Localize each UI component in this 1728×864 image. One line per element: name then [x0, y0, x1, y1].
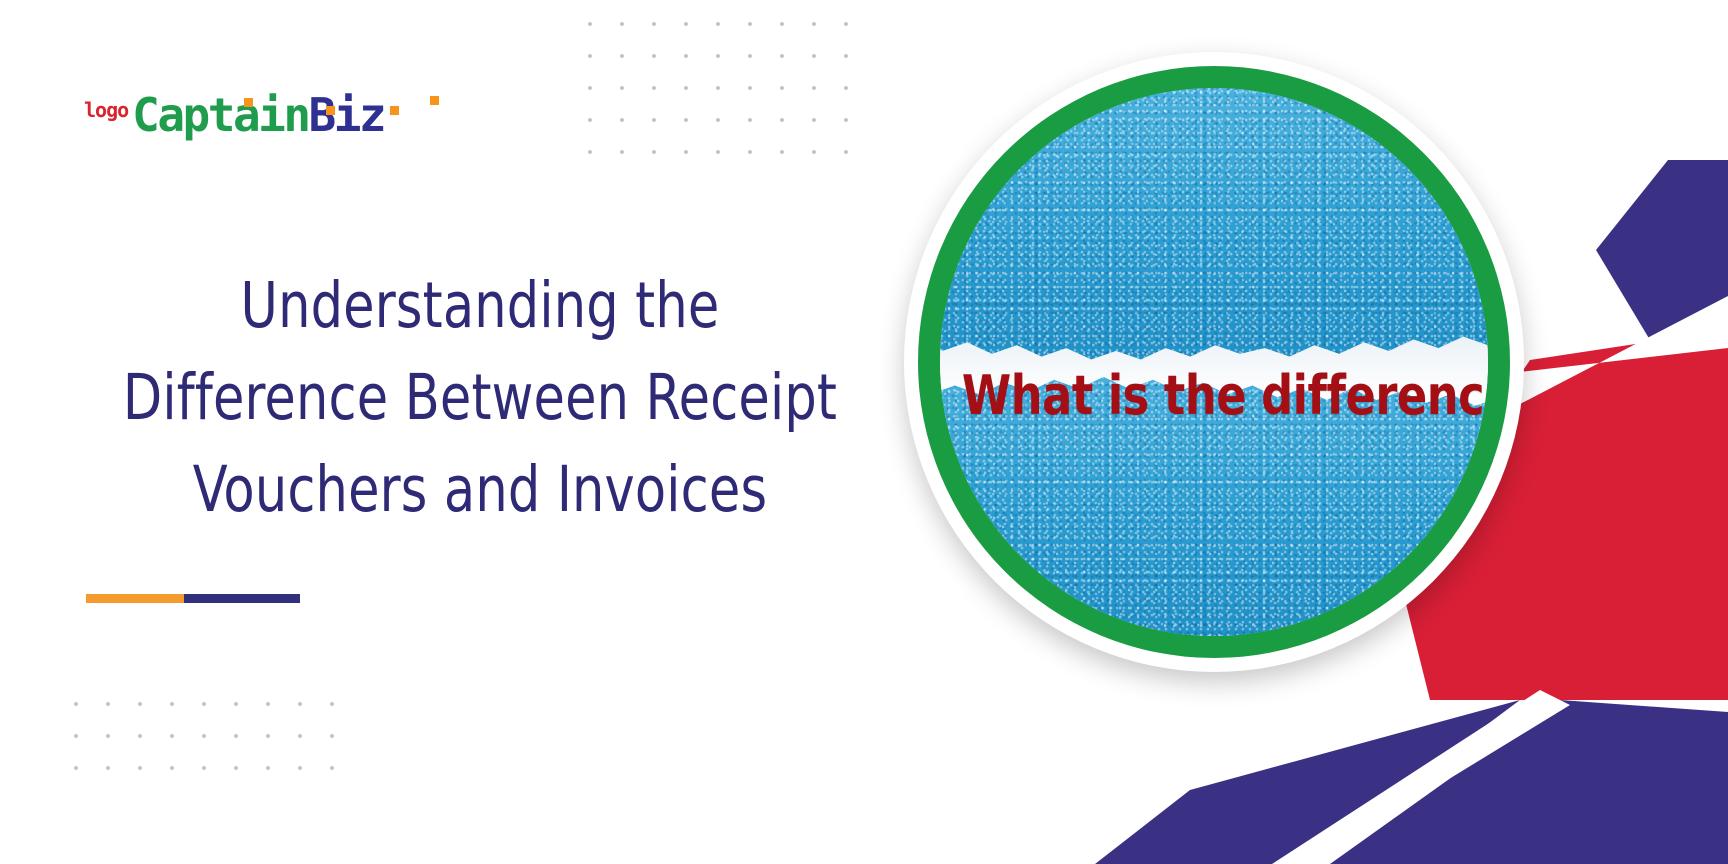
- dot-grid-bottom-decoration: [60, 688, 360, 798]
- banner-canvas: logo CaptainBiz Understanding the Differ…: [0, 0, 1728, 864]
- accent-bar-orange-segment: [86, 594, 184, 603]
- logo-accent-dot-icon: [244, 98, 253, 107]
- logo-accent-dot-icon: [430, 96, 439, 105]
- brand-wordmark-part1: Captain: [132, 88, 308, 142]
- dot-grid-top-decoration: [574, 8, 874, 168]
- navy-shape-bottom-right: [1330, 700, 1728, 864]
- title-accent-bar: [86, 594, 300, 603]
- hero-caption: What is the difference?: [962, 364, 1466, 427]
- logo-accent-dot-icon: [326, 106, 335, 115]
- page-title: Understanding the Difference Between Rec…: [84, 260, 876, 536]
- accent-bar-navy-segment: [184, 594, 300, 603]
- logo-badge-text: logo: [84, 100, 128, 120]
- navy-shape-bottom-middle: [1095, 700, 1520, 864]
- brand-logo[interactable]: logo CaptainBiz: [84, 92, 384, 138]
- white-sliver-bottom: [1272, 690, 1570, 864]
- brand-wordmark: CaptainBiz: [132, 92, 384, 138]
- hero-image-circle: What is the difference?: [904, 52, 1524, 672]
- logo-accent-dot-icon: [390, 106, 399, 115]
- page-title-line-2: Difference Between Receipt: [84, 352, 876, 444]
- page-title-line-1: Understanding the: [84, 260, 876, 352]
- torn-paper-top-band: [940, 88, 1488, 368]
- brand-wordmark-part2: Biz: [309, 88, 385, 142]
- hero-photo-torn-paper: What is the difference?: [940, 88, 1488, 636]
- navy-wedge-top-right: [1596, 160, 1728, 470]
- page-title-line-3: Vouchers and Invoices: [84, 444, 876, 536]
